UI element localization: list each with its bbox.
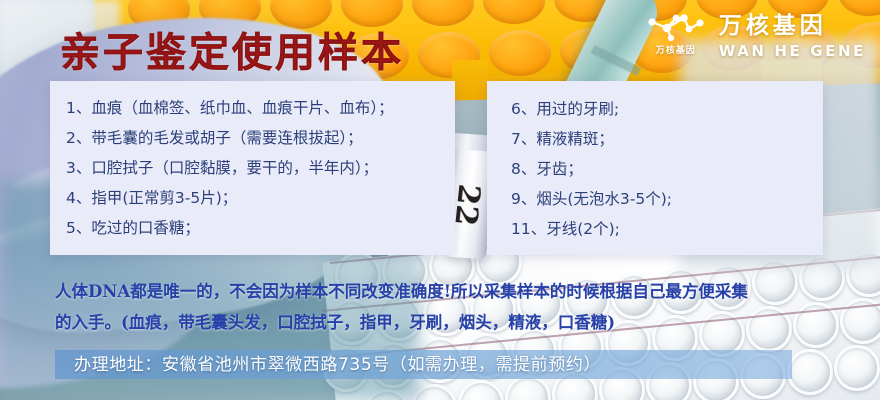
list-item: 6、用过的牙刷; [511,94,823,124]
page-title: 亲子鉴定使用样本 [60,20,404,78]
brand-mark: 万核基因 [645,11,707,56]
note-paragraph: 人体DNA都是唯一的，不会因为样本不同改变准确度!所以采集样本的时候根据自己最方… [55,276,845,338]
address-text: 办理地址：安徽省池州市翠微西路735号（如需办理，需提前预约） [74,351,794,379]
note-line-2: 的入手。(血痕，带毛囊头发，口腔拭子，指甲，牙刷，烟头，精液，口香糖) [55,307,845,338]
brand-wordmark: 万核基因 WAN HE GENE [719,6,866,60]
sample-list-left: 1、血痕（血棉签、纸巾血、血痕干片、血布）；2、带毛囊的毛发或胡子（需要连根拔起… [50,81,455,243]
list-item: 1、血痕（血棉签、纸巾血、血痕干片、血布）； [66,93,455,123]
list-item: 2、带毛囊的毛发或胡子（需要连根拔起）； [66,123,455,153]
brand-name-cn: 万核基因 [719,6,866,40]
sample-list-panel-left: 1、血痕（血棉签、纸巾血、血痕干片、血布）；2、带毛囊的毛发或胡子（需要连根拔起… [50,81,455,255]
list-item: 3、口腔拭子（口腔黏膜，要干的，半年内）； [66,153,455,183]
sample-list-panel-right: 6、用过的牙刷;7、精液精斑；8、牙齿；9、烟头(无泡水3-5个);11、牙线(… [487,81,823,255]
list-item: 7、精液精斑； [511,124,823,154]
brand-name-en: WAN HE GENE [719,42,866,60]
molecule-icon [645,11,707,41]
poster-content: 亲子鉴定使用样本 [0,0,880,400]
brand-logo: 万核基因 万核基因 WAN HE GENE [645,6,866,60]
list-item: 5、吃过的口香糖； [66,213,455,243]
list-item: 9、烟头(无泡水3-5个); [511,184,823,214]
poster-root: 22 亲子鉴定使用样本 [0,0,880,400]
note-line-1: 人体DNA都是唯一的，不会因为样本不同改变准确度!所以采集样本的时候根据自己最方… [55,276,845,307]
list-item: 11、牙线(2个); [511,214,823,244]
sample-list-right: 6、用过的牙刷;7、精液精斑；8、牙齿；9、烟头(无泡水3-5个);11、牙线(… [487,81,823,244]
brand-mark-subtitle: 万核基因 [656,43,696,56]
list-item: 8、牙齿； [511,154,823,184]
list-item: 4、指甲(正常剪3-5片)； [66,183,455,213]
